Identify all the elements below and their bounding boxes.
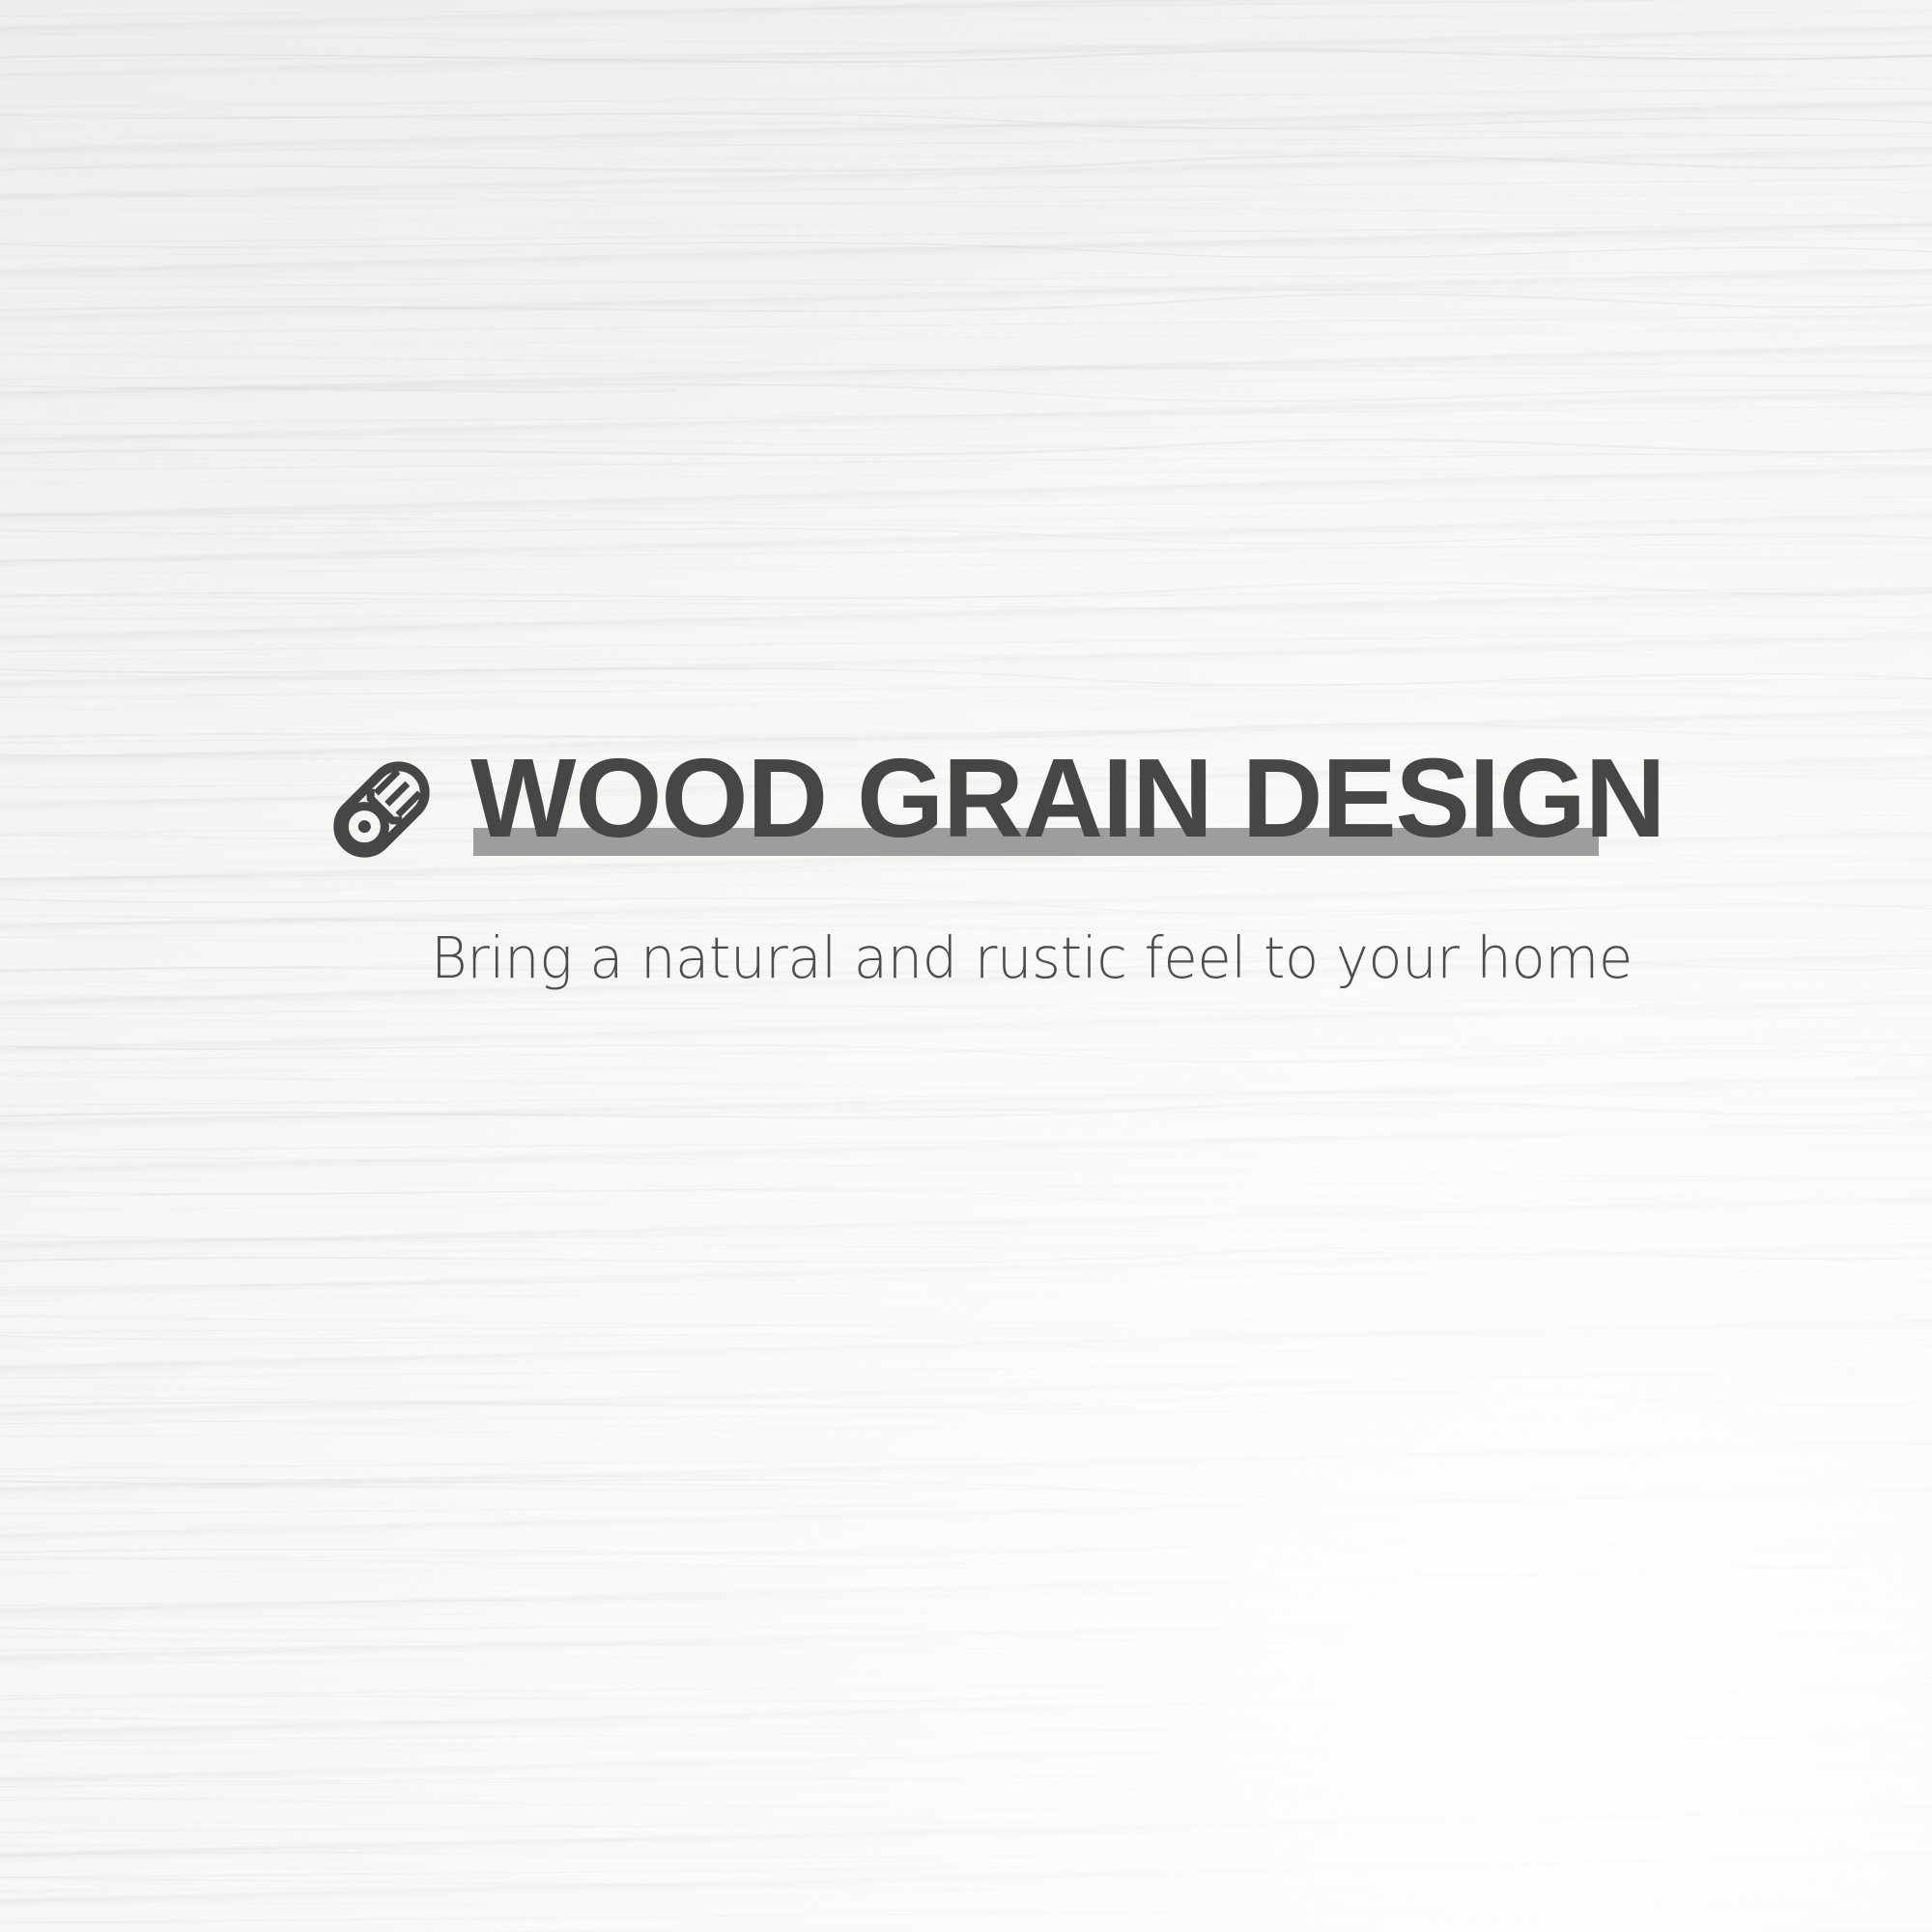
feature-callout: WOOD GRAIN DESIGN Bring a natural and ru… [333,744,1686,869]
wood-log-icon [333,755,430,864]
wood-grain-design-banner: WOOD GRAIN DESIGN Bring a natural and ru… [0,0,1932,1932]
subtitle: Bring a natural and rustic feel to your … [431,927,1633,989]
page-title: WOOD GRAIN DESIGN [470,744,1664,852]
headline-row: WOOD GRAIN DESIGN [333,744,1686,869]
